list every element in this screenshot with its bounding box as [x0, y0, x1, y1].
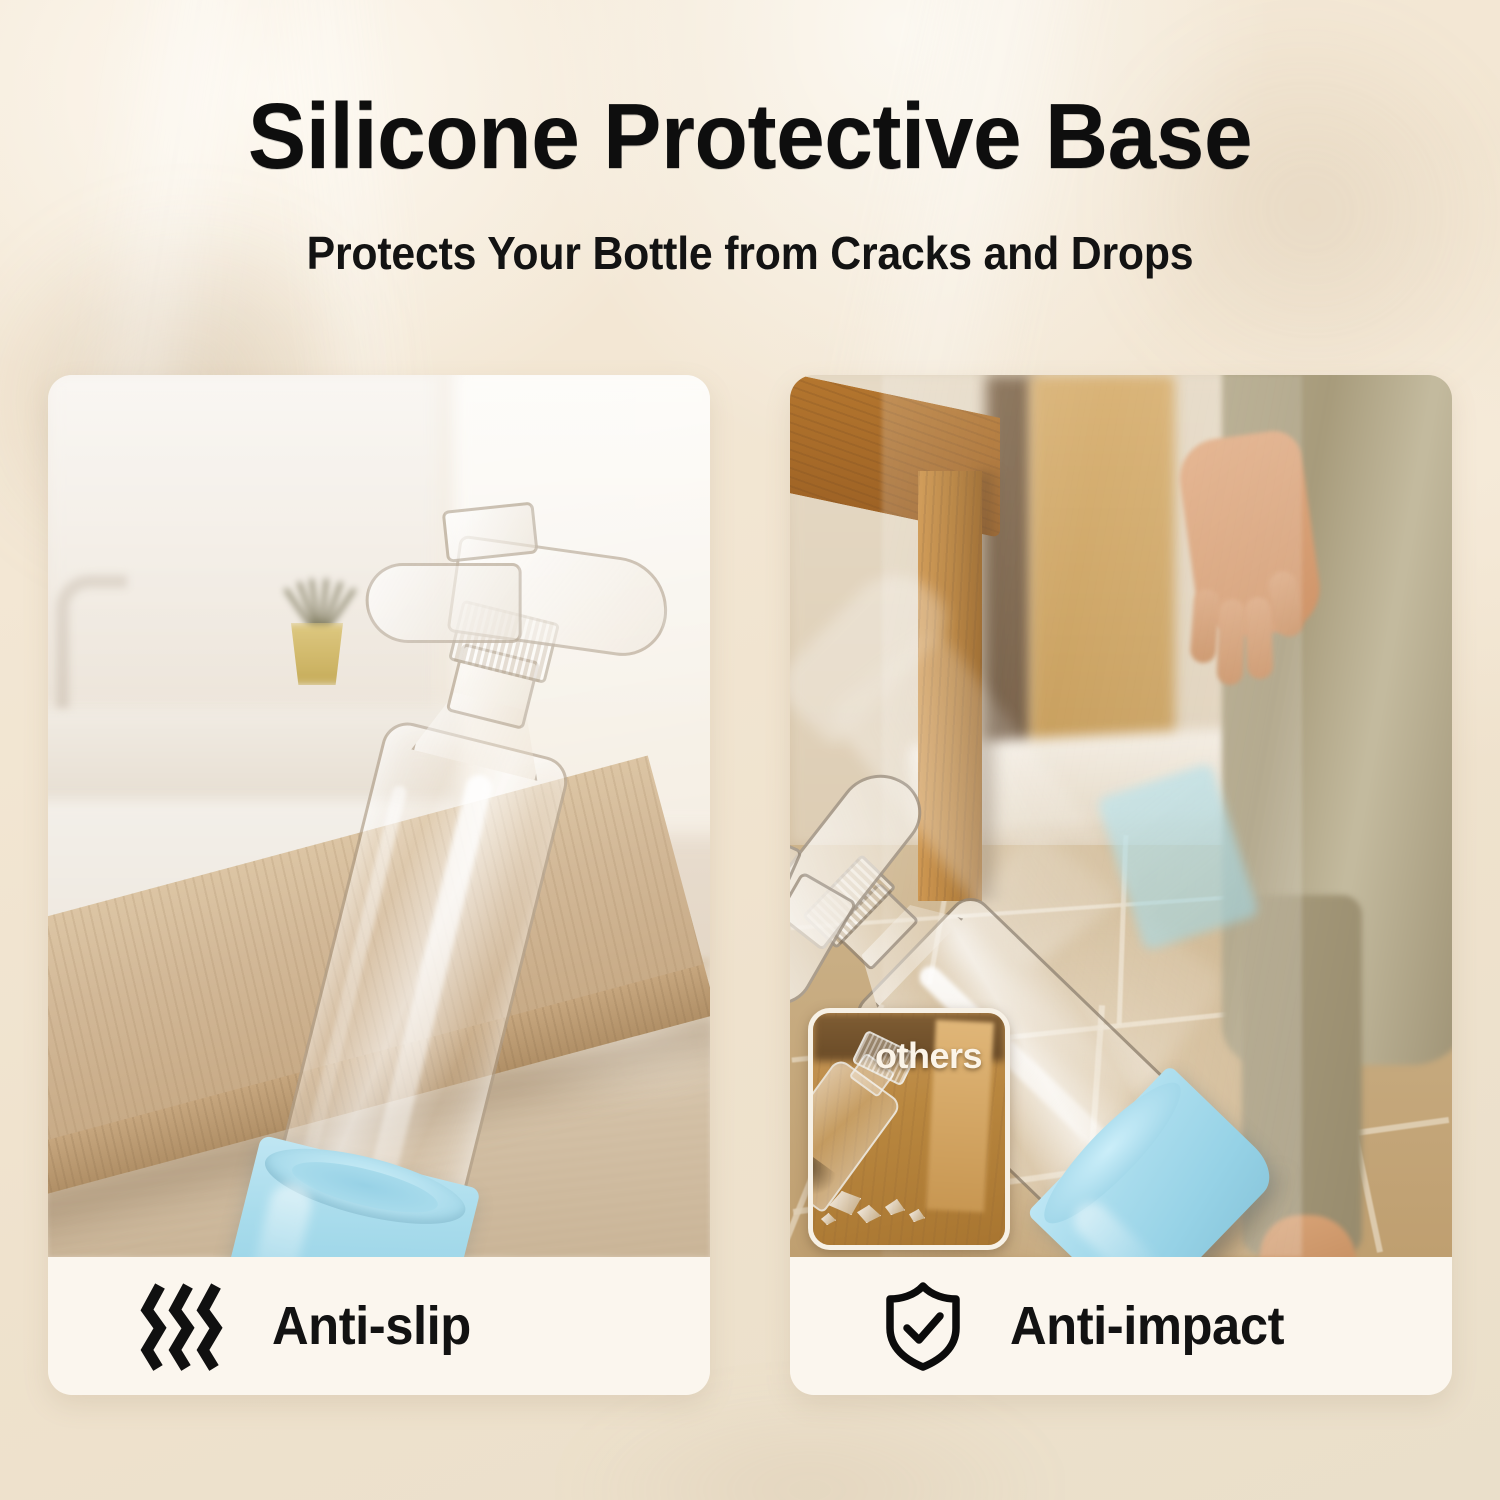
photo-anti-impact: others	[790, 375, 1452, 1257]
feature-card-anti-impact: others Anti-impact	[790, 375, 1452, 1395]
page-title: Silicone Protective Base	[45, 88, 1455, 186]
caption-anti-impact: Anti-impact	[790, 1257, 1452, 1395]
caption-anti-slip: Anti-slip	[48, 1257, 710, 1395]
others-comparison-inset: others	[808, 1008, 1010, 1250]
product-infographic: Silicone Protective Base Protects Your B…	[0, 0, 1500, 1500]
zigzag-waves-icon	[140, 1280, 226, 1372]
inset-label: others	[875, 1035, 982, 1077]
background-shadow	[560, 1390, 1060, 1500]
caption-label: Anti-impact	[1010, 1295, 1284, 1357]
page-subtitle: Protects Your Bottle from Cracks and Dro…	[53, 226, 1448, 280]
spray-nozzle	[442, 501, 539, 562]
trigger-lever	[366, 563, 522, 643]
photo-anti-slip	[48, 375, 710, 1257]
shield-check-icon	[882, 1280, 964, 1372]
feature-card-anti-slip: Anti-slip	[48, 375, 710, 1395]
caption-label: Anti-slip	[272, 1295, 471, 1357]
